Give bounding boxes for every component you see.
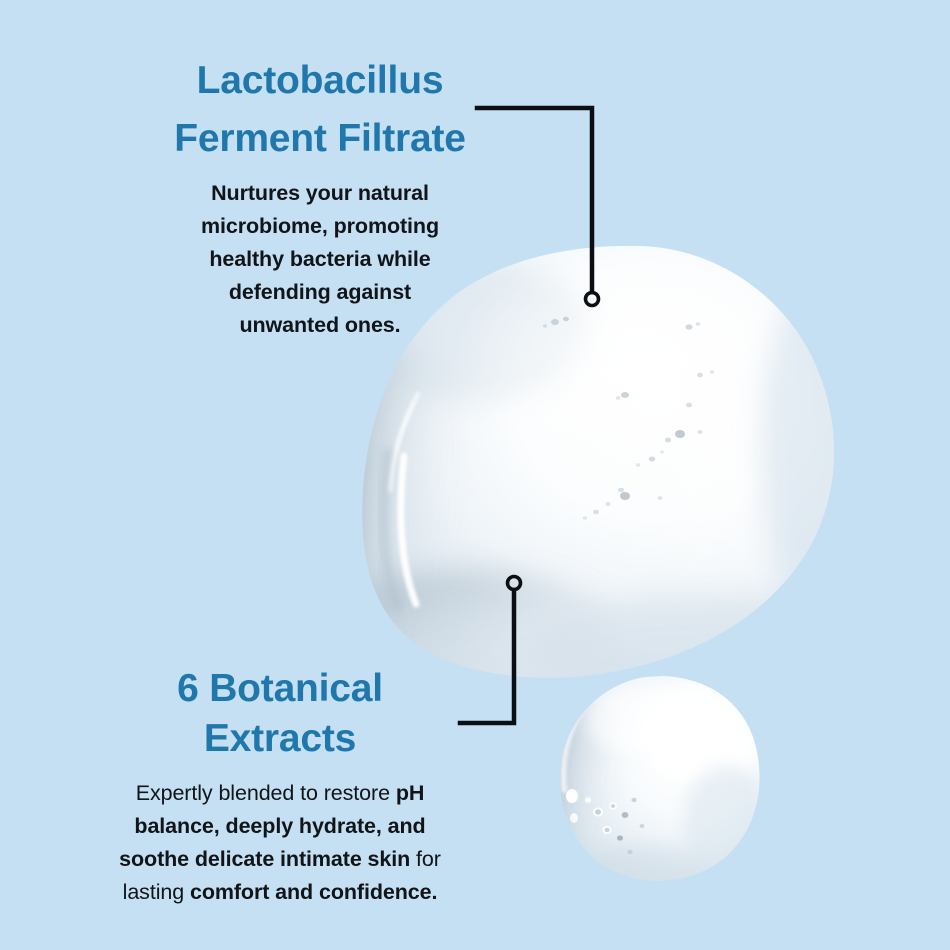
callout-body-line-4: defending against [148,276,492,309]
callout-body-line-1: Expertly blended to restore pH [78,777,482,810]
callout-title-line-1: 6 Botanical [78,664,482,714]
callout-body-line-1: Nurtures your natural [148,177,492,210]
callout-title-line-1: Lactobacillus [120,52,520,110]
callout-body-line-2-bold: balance, deeply hydrate, and [134,814,425,838]
product-ingredient-infographic: Lactobacillus Ferment Filtrate Nurtures … [0,0,950,950]
callout-six-botanical-extracts: 6 Botanical Extracts Expertly blended to… [78,664,482,909]
callout-body-botanical: Expertly blended to restore pH balance, … [78,777,482,909]
callout-body-line-3: healthy bacteria while [148,243,492,276]
callout-body-line-5: unwanted ones. [148,309,492,342]
callout-body-lactobacillus: Nurtures your natural microbiome, promot… [120,177,520,342]
callout-title-line-2: Extracts [78,714,482,764]
callout-body-line-4-bold: comfort and confidence. [190,880,437,904]
callout-title-lactobacillus: Lactobacillus Ferment Filtrate [120,52,520,168]
callout-body-line-2: microbiome, promoting [148,210,492,243]
gel-droplet [539,676,768,898]
callout-title-line-2: Ferment Filtrate [120,110,520,168]
callout-body-line-2: balance, deeply hydrate, and [78,810,482,843]
callout-title-botanical: 6 Botanical Extracts [78,664,482,764]
callout-body-line-3-bold: soothe delicate intimate skin [119,847,410,871]
callout-body-line-1-bold: pH [396,781,424,805]
callout-body-line-1-plain: Expertly blended to restore [136,781,396,805]
callout-body-line-3-plain: for [410,847,441,871]
callout-body-line-3: soothe delicate intimate skin for [78,843,482,876]
callout-lactobacillus-ferment-filtrate: Lactobacillus Ferment Filtrate Nurtures … [120,52,520,342]
callout-body-line-4: lasting comfort and confidence. [78,876,482,909]
callout-body-line-4-plain: lasting [123,880,190,904]
